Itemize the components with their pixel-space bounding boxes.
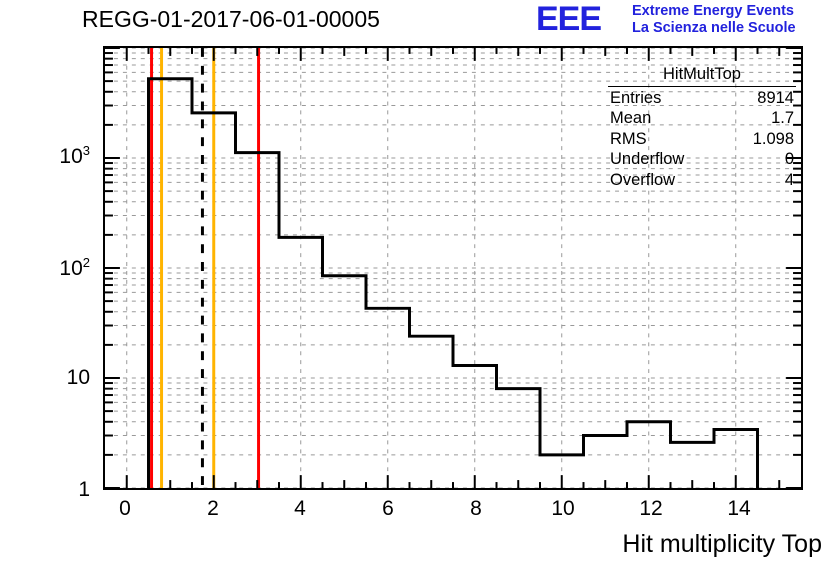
x-tick-label-6: 6 — [368, 497, 408, 521]
stats-key-overflow: Overflow — [610, 170, 675, 191]
eee-logo-letters: EEE — [536, 2, 601, 36]
eee-logo-caption: Extreme Energy Events La Scienza nelle S… — [632, 3, 796, 37]
eee-logo-line2: La Scienza nelle Scuole — [632, 20, 796, 37]
eee-logo: EEE EEE Extreme Energy Events La Scienza… — [536, 2, 834, 42]
x-tick-label-2: 2 — [193, 497, 233, 521]
x-tick-label-4: 4 — [280, 497, 320, 521]
plot-canvas: REGG-01-2017-06-01-00005 EEE EEE Extreme… — [0, 0, 836, 572]
x-tick-label-0: 0 — [105, 497, 145, 521]
stats-value-rms: 1.098 — [753, 129, 794, 150]
x-tick-label-10: 10 — [543, 497, 583, 521]
stats-row-underflow: Underflow 0 — [608, 149, 796, 170]
x-axis-title: Hit multiplicity Top — [622, 530, 822, 559]
stats-title: HitMultTop — [608, 64, 796, 87]
stats-key-mean: Mean — [610, 108, 651, 129]
stats-row-rms: RMS 1.098 — [608, 129, 796, 150]
y-tick-label-10: 10 — [32, 366, 90, 390]
y-tick-label-1: 1 — [32, 478, 90, 502]
stats-row-entries: Entries 8914 — [608, 88, 796, 109]
stats-value-mean: 1.7 — [771, 108, 794, 129]
stats-row-overflow: Overflow 4 — [608, 170, 796, 191]
y-tick-label-100: 102 — [32, 255, 90, 281]
stats-box: HitMultTop Entries 8914 Mean 1.7 RMS 1.0… — [608, 64, 796, 190]
x-tick-label-12: 12 — [631, 497, 671, 521]
stats-key-underflow: Underflow — [610, 149, 684, 170]
x-tick-label-8: 8 — [456, 497, 496, 521]
stats-key-rms: RMS — [610, 129, 647, 150]
stats-value-underflow: 0 — [785, 149, 794, 170]
y-tick-label-1000: 103 — [32, 143, 90, 169]
stats-key-entries: Entries — [610, 88, 661, 109]
page-title: REGG-01-2017-06-01-00005 — [82, 6, 380, 33]
stats-value-entries: 8914 — [757, 88, 794, 109]
stats-value-overflow: 4 — [785, 170, 794, 191]
x-tick-label-14: 14 — [719, 497, 759, 521]
eee-logo-line1: Extreme Energy Events — [632, 3, 796, 20]
stats-row-mean: Mean 1.7 — [608, 108, 796, 129]
